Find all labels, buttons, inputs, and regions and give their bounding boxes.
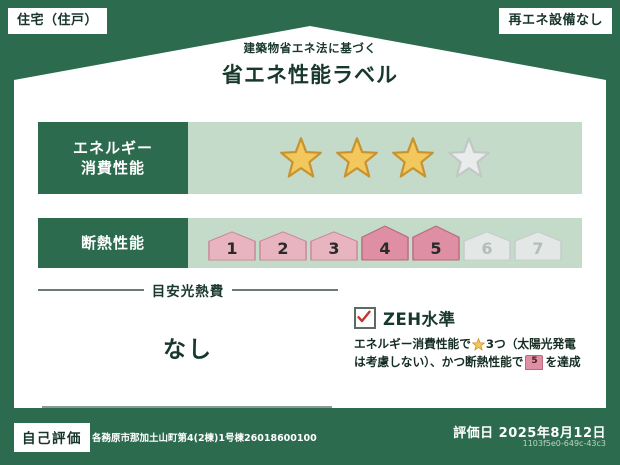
insulation-level-strip: 1234567 (208, 225, 562, 261)
title-block: 建築物省エネ法に基づく 省エネ性能ラベル (14, 40, 606, 89)
badge-renewable-energy: 再エネ設備なし (499, 8, 612, 34)
zeh-description-line1: エネルギー消費性能で 3つ（太陽光発電 (354, 335, 620, 353)
zeh-title: ZEH水準 (383, 306, 456, 330)
property-address: 各務原市那加土山町第4(2棟)1号棟26018600100 (92, 430, 317, 444)
badge-building-type: 住宅（住戸） (8, 8, 107, 34)
star-filled-icon (391, 136, 435, 180)
zeh-desc-line2-b: を達成 (545, 353, 580, 371)
star-filled-icon (279, 136, 323, 180)
zeh-desc-line1-b: 3つ（太陽光発電 (486, 335, 576, 353)
insulation-level-block: 4 (361, 225, 409, 261)
insulation-level-number: 3 (328, 239, 339, 258)
star-rating (279, 136, 491, 180)
utility-cost-heading-text: 目安光熱費 (152, 280, 225, 300)
lower-content-area: 目安光熱費 なし ZEH水準 エネルギー消費性能で (38, 280, 582, 420)
main-house-panel: 建築物省エネ法に基づく 省エネ性能ラベル エネルギー 消費性能 断熱性能 123… (14, 26, 606, 408)
insulation-performance-value: 1234567 (188, 218, 582, 268)
insulation-level-block: 5 (412, 225, 460, 261)
utility-cost-heading: 目安光熱費 (38, 280, 338, 300)
zeh-heading: ZEH水準 (354, 306, 620, 330)
energy-performance-label: エネルギー 消費性能 (38, 122, 188, 194)
energy-label-line2: 消費性能 (81, 159, 145, 177)
energy-label-line1: エネルギー (73, 139, 153, 157)
heading-rule-left (38, 289, 144, 291)
insulation-level-number: 1 (226, 239, 237, 258)
insulation-level-number: 5 (430, 239, 441, 258)
insulation-level-number: 6 (481, 239, 492, 258)
title-subtitle: 建築物省エネ法に基づく (14, 40, 606, 56)
insulation-performance-row: 断熱性能 1234567 (38, 218, 582, 268)
utility-cost-value: なし (38, 330, 338, 364)
insulation-level-block: 3 (310, 231, 358, 261)
star-empty-icon (447, 136, 491, 180)
zeh-desc-line1-a: エネルギー消費性能で (354, 335, 471, 353)
page-title: 省エネ性能ラベル (14, 59, 606, 89)
energy-performance-label: 住宅（住戸） 再エネ設備なし 建築物省エネ法に基づく 省エネ性能ラベル エネルギ… (0, 0, 620, 465)
insulation-level-block: 1 (208, 231, 256, 261)
document-id: 1103f5e0-649c-43c3 (523, 439, 606, 448)
insulation-level-number: 4 (379, 239, 390, 258)
inline-star-icon (472, 338, 485, 351)
insulation-level-number: 7 (532, 239, 543, 258)
insulation-level-block: 2 (259, 231, 307, 261)
zeh-checkbox[interactable] (354, 307, 376, 329)
heading-rule-right (232, 289, 338, 291)
energy-performance-row: エネルギー 消費性能 (38, 122, 582, 194)
zeh-description: エネルギー消費性能で 3つ（太陽光発電 は考慮しない）、かつ断熱性能で 5 を達… (354, 335, 620, 371)
energy-performance-value (188, 122, 582, 194)
utility-cost-section: 目安光熱費 なし (38, 280, 338, 364)
insulation-performance-label: 断熱性能 (38, 218, 188, 268)
insulation-level-block: 7 (514, 231, 562, 261)
insulation-level-number: 2 (277, 239, 288, 258)
insulation-level-block: 6 (463, 231, 511, 261)
check-icon (357, 310, 371, 324)
inline-insulation-badge: 5 (525, 355, 543, 370)
footer-bar: 自己評価 各務原市那加土山町第4(2棟)1号棟26018600100 評価日 2… (0, 408, 620, 465)
zeh-desc-line2-a: は考慮しない）、かつ断熱性能で (354, 353, 523, 371)
evaluation-type-badge: 自己評価 (14, 423, 90, 452)
zeh-section: ZEH水準 エネルギー消費性能で 3つ（太陽光発電 は考慮しない）、かつ断熱性能… (354, 306, 620, 371)
zeh-description-line2: は考慮しない）、かつ断熱性能で 5 を達成 (354, 353, 620, 371)
star-filled-icon (335, 136, 379, 180)
